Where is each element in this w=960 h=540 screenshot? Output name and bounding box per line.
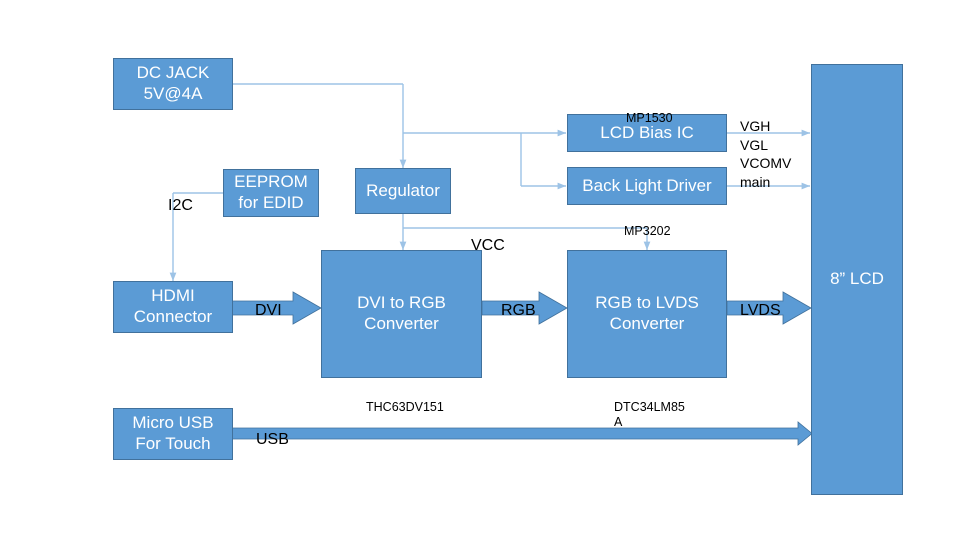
block-dvi-to-rgb-label: DVI to RGB Converter: [357, 293, 446, 334]
block-regulator-label: Regulator: [366, 181, 440, 202]
block-back-light-driver-label: Back Light Driver: [582, 176, 711, 197]
signal-label-panel-rails-text: VGH VGL VCOMV main: [740, 118, 791, 189]
caption-thc63dv151-text: THC63DV151: [366, 400, 444, 414]
block-hdmi-connector[interactable]: HDMI Connector: [113, 281, 233, 333]
caption-mp3202: MP3202: [624, 208, 671, 239]
signal-label-usb: USB: [256, 410, 289, 451]
block-dvi-to-rgb[interactable]: DVI to RGB Converter: [321, 250, 482, 378]
block-rgb-to-lvds[interactable]: RGB to LVDS Converter: [567, 250, 727, 378]
signal-label-usb-text: USB: [256, 431, 289, 448]
signal-label-i2c: I2C: [168, 176, 193, 217]
signal-label-panel-rails: VGH VGL VCOMV main: [740, 99, 791, 191]
block-lcd-panel[interactable]: 8” LCD: [811, 64, 903, 495]
block-eeprom-label: EEPROM for EDID: [234, 172, 308, 213]
signal-label-i2c-text: I2C: [168, 197, 193, 214]
caption-dtc34lm85a-text: DTC34LM85 A: [614, 400, 685, 430]
block-regulator[interactable]: Regulator: [355, 168, 451, 214]
block-diagram-canvas: DC JACK 5V@4A EEPROM for EDID Regulator …: [0, 0, 960, 540]
signal-label-rgb: RGB: [501, 281, 536, 322]
block-dc-jack[interactable]: DC JACK 5V@4A: [113, 58, 233, 110]
block-lcd-panel-label: 8” LCD: [830, 269, 884, 290]
arrow-usb: [232, 422, 812, 445]
caption-mp1530: MP1530: [626, 95, 673, 126]
block-micro-usb[interactable]: Micro USB For Touch: [113, 408, 233, 460]
caption-thc63dv151: THC63DV151: [366, 384, 444, 415]
signal-label-lvds: LVDS: [740, 281, 781, 322]
signal-label-vcc-text: VCC: [471, 237, 505, 254]
block-back-light-driver[interactable]: Back Light Driver: [567, 167, 727, 205]
block-dc-jack-label: DC JACK 5V@4A: [137, 63, 210, 104]
caption-mp1530-text: MP1530: [626, 111, 673, 125]
caption-mp3202-text: MP3202: [624, 224, 671, 238]
block-eeprom[interactable]: EEPROM for EDID: [223, 169, 319, 217]
signal-label-rgb-text: RGB: [501, 302, 536, 319]
signal-label-dvi-text: DVI: [255, 302, 282, 319]
signal-label-vcc: VCC: [471, 216, 505, 257]
block-rgb-to-lvds-label: RGB to LVDS Converter: [595, 293, 699, 334]
signal-label-dvi: DVI: [255, 281, 282, 322]
caption-dtc34lm85a: DTC34LM85 A: [614, 384, 685, 431]
signal-label-lvds-text: LVDS: [740, 302, 781, 319]
block-micro-usb-label: Micro USB For Touch: [132, 413, 213, 454]
block-hdmi-connector-label: HDMI Connector: [134, 286, 212, 327]
